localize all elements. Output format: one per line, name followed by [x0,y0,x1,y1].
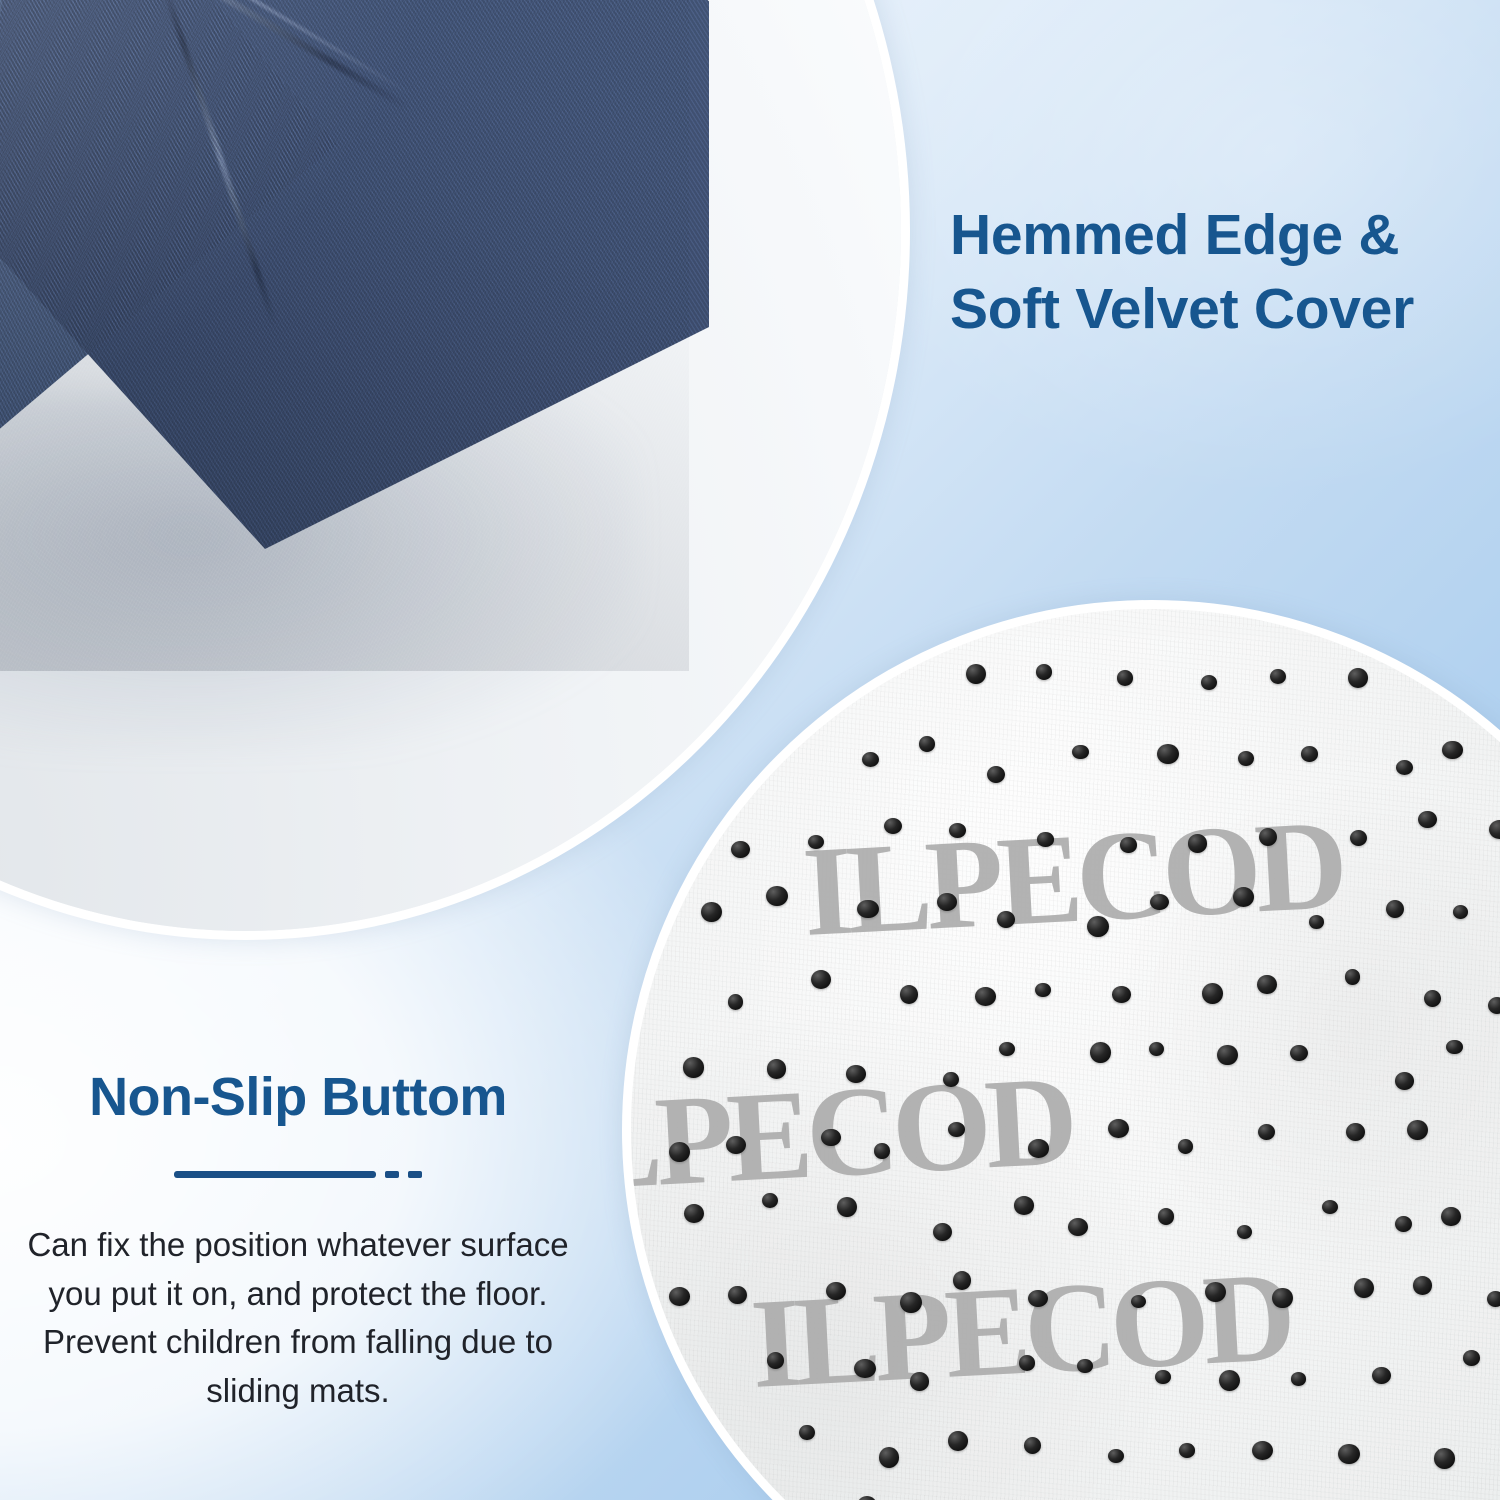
feature-body-line-4: sliding mats. [20,1367,576,1416]
velvet-cushion [0,0,689,671]
headline-hemmed-edge: Hemmed Edge & Soft Velvet Cover [950,198,1490,346]
divider-line [174,1171,376,1178]
feature-description: Can fix the position whatever surface yo… [20,1221,576,1415]
photo-non-slip-mat: ILPECOD ILPECOD ILPECOD [622,600,1500,1500]
headline-line-1: Hemmed Edge & [950,198,1490,272]
feature-non-slip-block: Non-Slip Buttom Can fix the position wha… [20,1068,576,1415]
feature-body-line-1: Can fix the position whatever surface [20,1221,576,1270]
divider-dash-2 [408,1171,422,1178]
feature-title: Non-Slip Buttom [20,1068,576,1127]
headline-line-2: Soft Velvet Cover [950,272,1490,346]
product-feature-canvas: ILPECOD ILPECOD ILPECOD Hemmed Edge & So… [0,0,1500,1500]
divider-dash-1 [385,1171,399,1178]
feature-divider [20,1161,576,1187]
feature-body-line-3: Prevent children from falling due to [20,1318,576,1367]
anti-slip-grip-dots [631,609,1500,1500]
feature-body-line-2: you put it on, and protect the floor. [20,1270,576,1319]
